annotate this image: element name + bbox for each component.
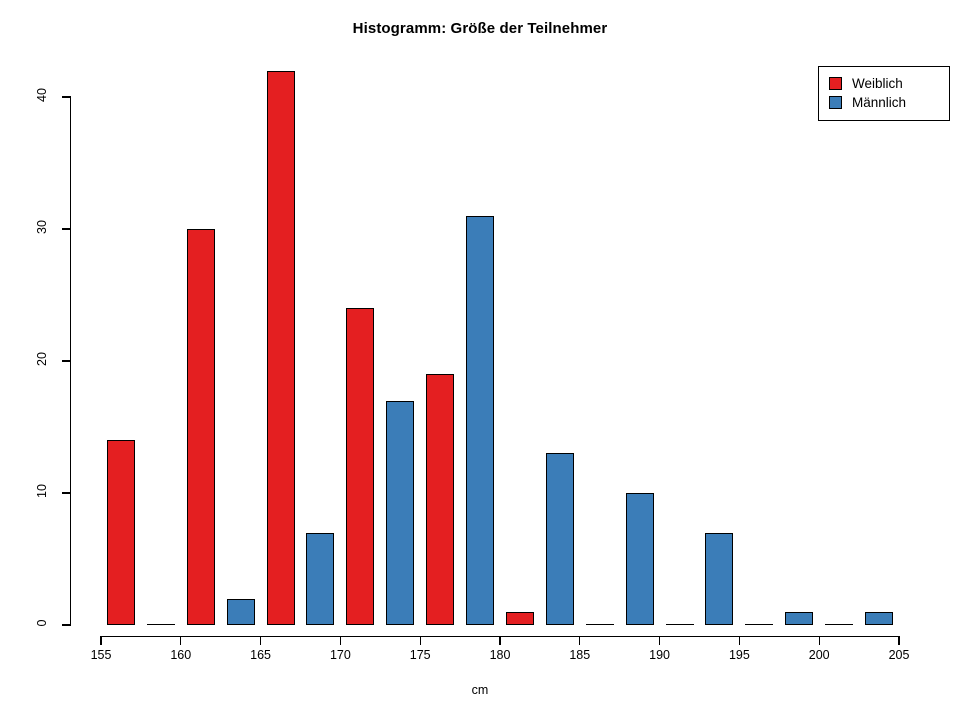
histogram-bar [147, 624, 175, 625]
x-axis-tick [180, 636, 181, 645]
histogram-bar [267, 71, 295, 625]
y-axis-tick-label: 30 [35, 213, 49, 241]
legend-color-swatch [829, 77, 842, 90]
legend-item-männlich[interactable]: Männlich [829, 93, 941, 112]
legend: WeiblichMännlich [818, 66, 950, 121]
plot-area [71, 60, 915, 625]
histogram-bar [666, 624, 694, 625]
x-axis-tick-label: 180 [477, 648, 523, 662]
x-axis-tick-label: 155 [78, 648, 124, 662]
x-axis-tick [499, 636, 500, 645]
legend-color-swatch [829, 96, 842, 109]
x-axis-tick-label: 165 [238, 648, 284, 662]
x-axis-tick [100, 636, 101, 645]
x-axis-tick-label: 195 [716, 648, 762, 662]
x-axis-tick-label: 160 [158, 648, 204, 662]
x-axis-tick-label: 190 [637, 648, 683, 662]
y-axis-tick [62, 228, 71, 229]
histogram-bar [705, 533, 733, 625]
histogram-bar [626, 493, 654, 625]
histogram-bar [466, 216, 494, 625]
x-axis-tick [579, 636, 580, 645]
histogram-bar [785, 612, 813, 625]
legend-item-label: Weiblich [852, 76, 903, 91]
histogram-bar [346, 308, 374, 625]
x-axis-title: cm [0, 683, 960, 697]
x-axis-tick [898, 636, 899, 645]
histogram-bar [865, 612, 893, 625]
histogram-bar [386, 401, 414, 625]
y-axis-tick-label: 10 [35, 477, 49, 505]
page-title: Histogramm: Größe der Teilnehmer [0, 20, 960, 37]
histogram-bar [426, 374, 454, 625]
histogram-bar [306, 533, 334, 625]
x-axis-tick [739, 636, 740, 645]
legend-item-label: Männlich [852, 95, 906, 110]
x-axis-tick [420, 636, 421, 645]
histogram-bar [745, 624, 773, 625]
y-axis-tick-label: 0 [35, 609, 49, 637]
x-axis-tick [340, 636, 341, 645]
histogram-bar [107, 440, 135, 625]
x-axis-tick-label: 170 [317, 648, 363, 662]
y-axis-tick-label: 40 [35, 81, 49, 109]
y-axis-tick [62, 96, 71, 97]
histogram-bar [825, 624, 853, 625]
x-axis-tick [819, 636, 820, 645]
histogram-bar [546, 453, 574, 625]
x-axis-tick-label: 175 [397, 648, 443, 662]
y-axis-tick [62, 624, 71, 625]
y-axis-tick [62, 492, 71, 493]
x-axis-tick-label: 185 [557, 648, 603, 662]
histogram-bar [506, 612, 534, 625]
histogram-bar [187, 229, 215, 625]
histogram-chart: Histogramm: Größe der Teilnehmer 0102030… [0, 0, 960, 720]
y-axis-tick-label: 20 [35, 345, 49, 373]
x-axis-tick-label: 205 [876, 648, 922, 662]
histogram-bar [227, 599, 255, 625]
legend-item-weiblich[interactable]: Weiblich [829, 74, 941, 93]
y-axis-tick [62, 360, 71, 361]
x-axis-tick [659, 636, 660, 645]
x-axis-tick [260, 636, 261, 645]
histogram-bar [586, 624, 614, 625]
x-axis-tick-label: 200 [796, 648, 842, 662]
